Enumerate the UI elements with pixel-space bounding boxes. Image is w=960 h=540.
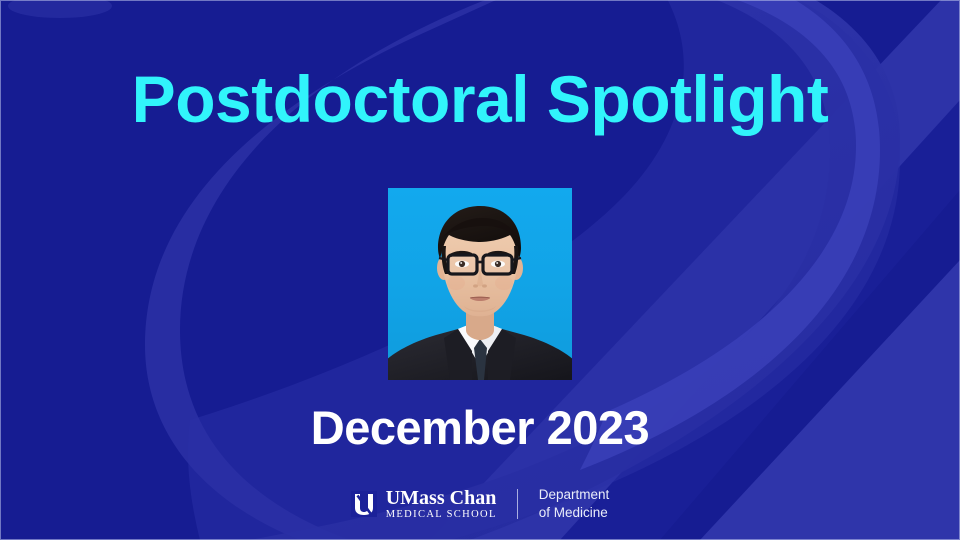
institution-wordmark: UMass Chan MEDICAL SCHOOL	[386, 488, 497, 520]
postdoc-headshot-photo	[388, 188, 572, 380]
department-line-2: of Medicine	[539, 504, 610, 522]
page-title: Postdoctoral Spotlight	[0, 66, 960, 132]
footer-logo-lockup: UMass Chan MEDICAL SCHOOL Department of …	[0, 486, 960, 522]
lockup-divider	[517, 489, 518, 519]
postdoctoral-spotlight-slide: Postdoctoral Spotlight	[0, 0, 960, 540]
slide-date: December 2023	[0, 404, 960, 451]
department-line-1: Department	[539, 486, 610, 504]
department-name: Department of Medicine	[539, 486, 610, 522]
institution-subtitle: MEDICAL SCHOOL	[386, 510, 497, 521]
institution-name: UMass Chan	[386, 488, 497, 508]
umass-chan-u-monogram-icon	[351, 491, 377, 517]
